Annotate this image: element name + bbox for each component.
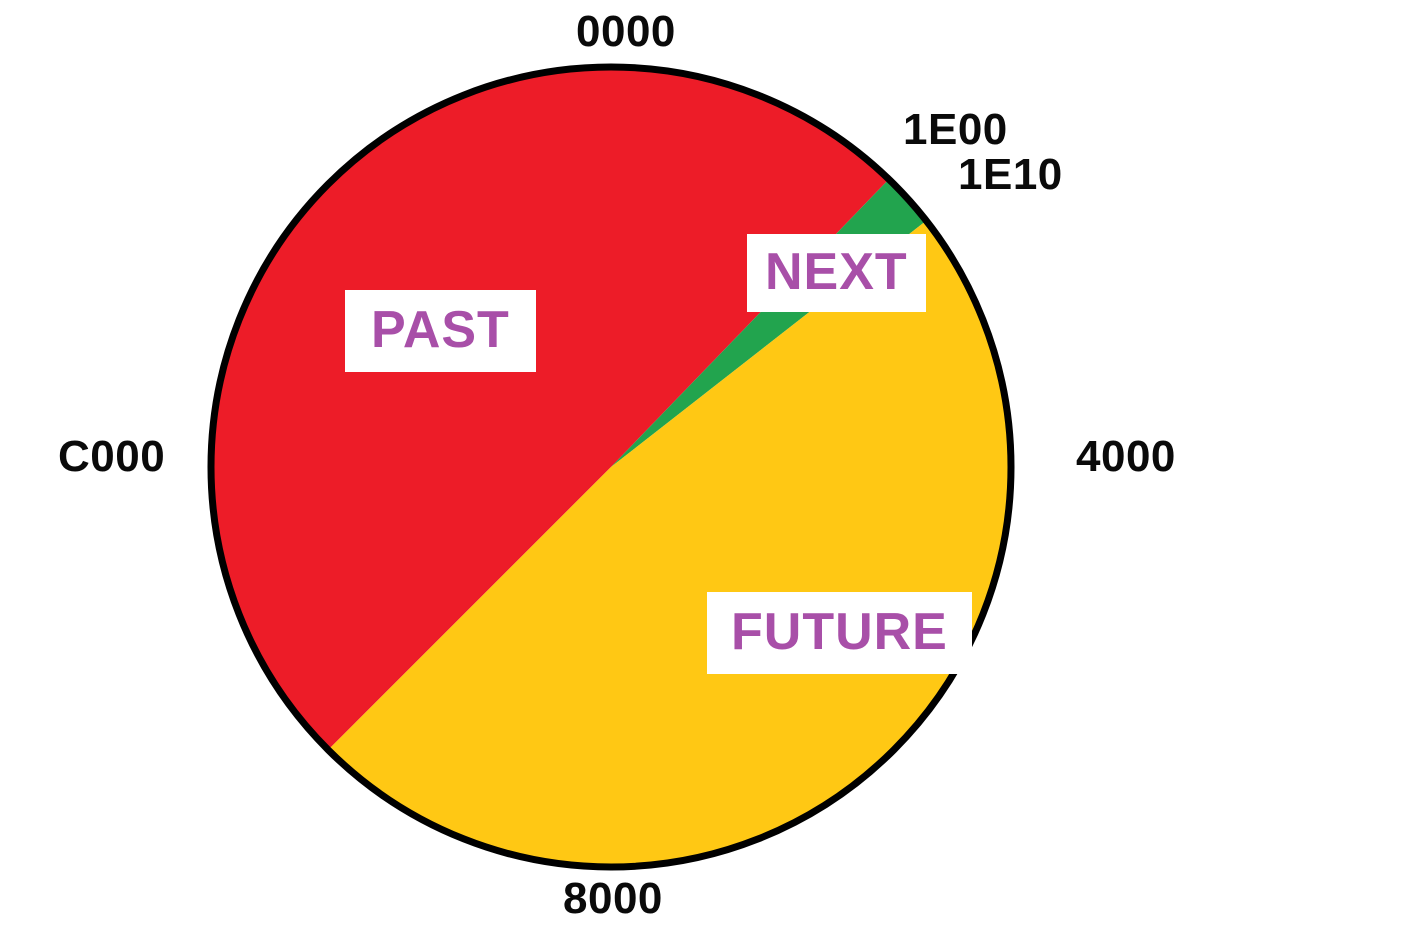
sector-label-next: NEXT (747, 234, 926, 312)
sector-label-past: PAST (345, 290, 536, 372)
sector-label-future: FUTURE (707, 592, 972, 674)
sequence-space-circle (0, 0, 1404, 949)
tick-label-1E00: 1E00 (903, 108, 1008, 152)
tick-label-C000: C000 (58, 435, 165, 479)
diagram-canvas: 0000 1E00 1E10 4000 8000 C000 PAST NEXT … (0, 0, 1404, 949)
tick-label-4000: 4000 (1076, 435, 1176, 479)
tick-label-0000: 0000 (576, 10, 676, 54)
tick-label-8000: 8000 (563, 877, 663, 921)
tick-label-1E10: 1E10 (958, 153, 1063, 197)
